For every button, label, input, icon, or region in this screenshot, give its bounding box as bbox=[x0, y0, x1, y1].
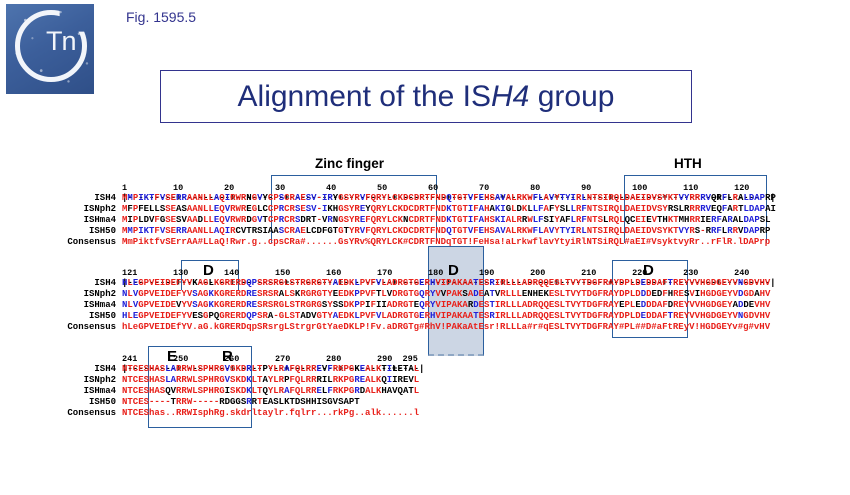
logo-tn-text: Tn bbox=[46, 26, 76, 57]
sequence-row: NTCES----TRRW-----RDGGSRRTEASLKTDSHHISGV… bbox=[122, 397, 360, 407]
sequence-row: NTCESHASLARRWLSPHRGVSKDKLTAYLRPFQLRRRILR… bbox=[122, 375, 419, 385]
sequence-row-label: ISH4 bbox=[26, 193, 116, 203]
title-prefix: Alignment of the IS bbox=[238, 80, 491, 113]
title-suffix: group bbox=[529, 80, 614, 113]
sequence-row-label: ISNph2 bbox=[26, 375, 116, 385]
sequence-row-label: ISHma4 bbox=[26, 300, 116, 310]
sequence-row: MFPFELLSSEASAANLLEQVRWREGLCCPRCRSESV-IKH… bbox=[122, 204, 776, 214]
sequence-row-label: Consensus bbox=[26, 237, 116, 247]
sequence-row-label: ISH50 bbox=[26, 311, 116, 321]
sequence-row-label: ISH50 bbox=[26, 226, 116, 236]
sequence-row: NTCESHASLARRWLSPHRGVSKDRLTPYLRAFQLRREVFR… bbox=[122, 364, 419, 374]
organization-logo: Tn bbox=[6, 4, 94, 94]
page-title: Alignment of the ISH4 group bbox=[238, 80, 615, 114]
sequence-row-label: Consensus bbox=[26, 322, 116, 332]
domain-label-zinc-finger: Zinc finger bbox=[315, 156, 384, 171]
sequence-row: MMPIKTFVSERRAANLLAQIRWRNGVYCPSCRAESV-IRY… bbox=[122, 193, 776, 203]
sequence-row: NLVGPVEIDEVYVSAGKKGRERDRESRSRGLSTRGRGSYS… bbox=[122, 300, 770, 310]
sequence-row: MmPiktfvSErrAA#LLaQ!Rwr.g..cpsCRa#......… bbox=[122, 237, 770, 247]
sequence-row-label: Consensus bbox=[26, 408, 116, 418]
sequence-row: HLEGPVEIDEFYVKAGLKGRERDQPSRSRGLSTRGRGTYA… bbox=[122, 278, 770, 288]
sequence-row-label: ISNph2 bbox=[26, 289, 116, 299]
slide-title-box: Alignment of the ISH4 group bbox=[160, 70, 692, 123]
ruler-numbers-block-2: 121 130 140 150 160 170 180 190 200 210 … bbox=[122, 268, 749, 278]
ruler-numbers-block-3: 241 250 260 270 280 290 295 bbox=[122, 354, 418, 364]
sequence-row-label: ISHma4 bbox=[26, 215, 116, 225]
sequence-row: HLEGPVEIDEFYVESGPQGRERDQPSRA-GLSTADVGTYA… bbox=[122, 311, 770, 321]
sequence-row-label: ISH4 bbox=[26, 364, 116, 374]
domain-label-hth: HTH bbox=[674, 156, 702, 171]
sequence-alignment-figure: Zinc finger HTH 1 10 20 30 40 50 60 70 8… bbox=[0, 150, 850, 470]
sequence-row-label: ISNph2 bbox=[26, 204, 116, 214]
sequence-row-label: ISH50 bbox=[26, 397, 116, 407]
title-italic-part: H4 bbox=[491, 80, 529, 113]
sequence-row: NTCEShas..RRWIsphRg.skdrltaylr.fqlrr...r… bbox=[122, 408, 419, 418]
sequence-row-label: ISH4 bbox=[26, 278, 116, 288]
sequence-row: MIPLDVFGSESVAADLLEQVRWRDGVTCPRCRSDRT-VRN… bbox=[122, 215, 771, 225]
sequence-row: NLVGPVEIDEFYVSAGKKGRERDRESRSRALSKRGRGTYE… bbox=[122, 289, 770, 299]
sequence-row: NTCESHASQVRRWLSPHRGISKDKLTQYLRAFQLRRELFR… bbox=[122, 386, 419, 396]
sequence-row: hLeGPVEIDEfYV.aG.kGRERDqpSRsrgLStrgrGtYa… bbox=[122, 322, 770, 332]
ruler-numbers-block-1: 1 10 20 30 40 50 60 70 80 90 100 110 120 bbox=[122, 183, 749, 193]
sequence-row-label: ISHma4 bbox=[26, 386, 116, 396]
figure-number-label: Fig. 1595.5 bbox=[126, 9, 196, 25]
sequence-row: MMPIKTFVSERRAANLLAQIRCVTRSIAASCRAELCDFGT… bbox=[122, 226, 770, 236]
